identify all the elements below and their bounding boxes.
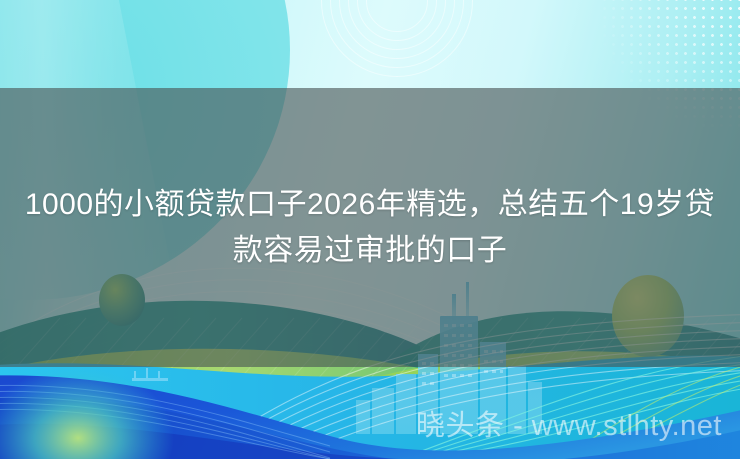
title-scrim-overlay: 1000的小额贷款口子2026年精选，总结五个19岁贷款容易过审批的口子 xyxy=(0,88,740,367)
concentric-rings-icon xyxy=(322,0,472,76)
page-title: 1000的小额贷款口子2026年精选，总结五个19岁贷款容易过审批的口子 xyxy=(20,182,720,274)
cover-image: 1000的小额贷款口子2026年精选，总结五个19岁贷款容易过审批的口子 晓头条… xyxy=(0,0,740,459)
